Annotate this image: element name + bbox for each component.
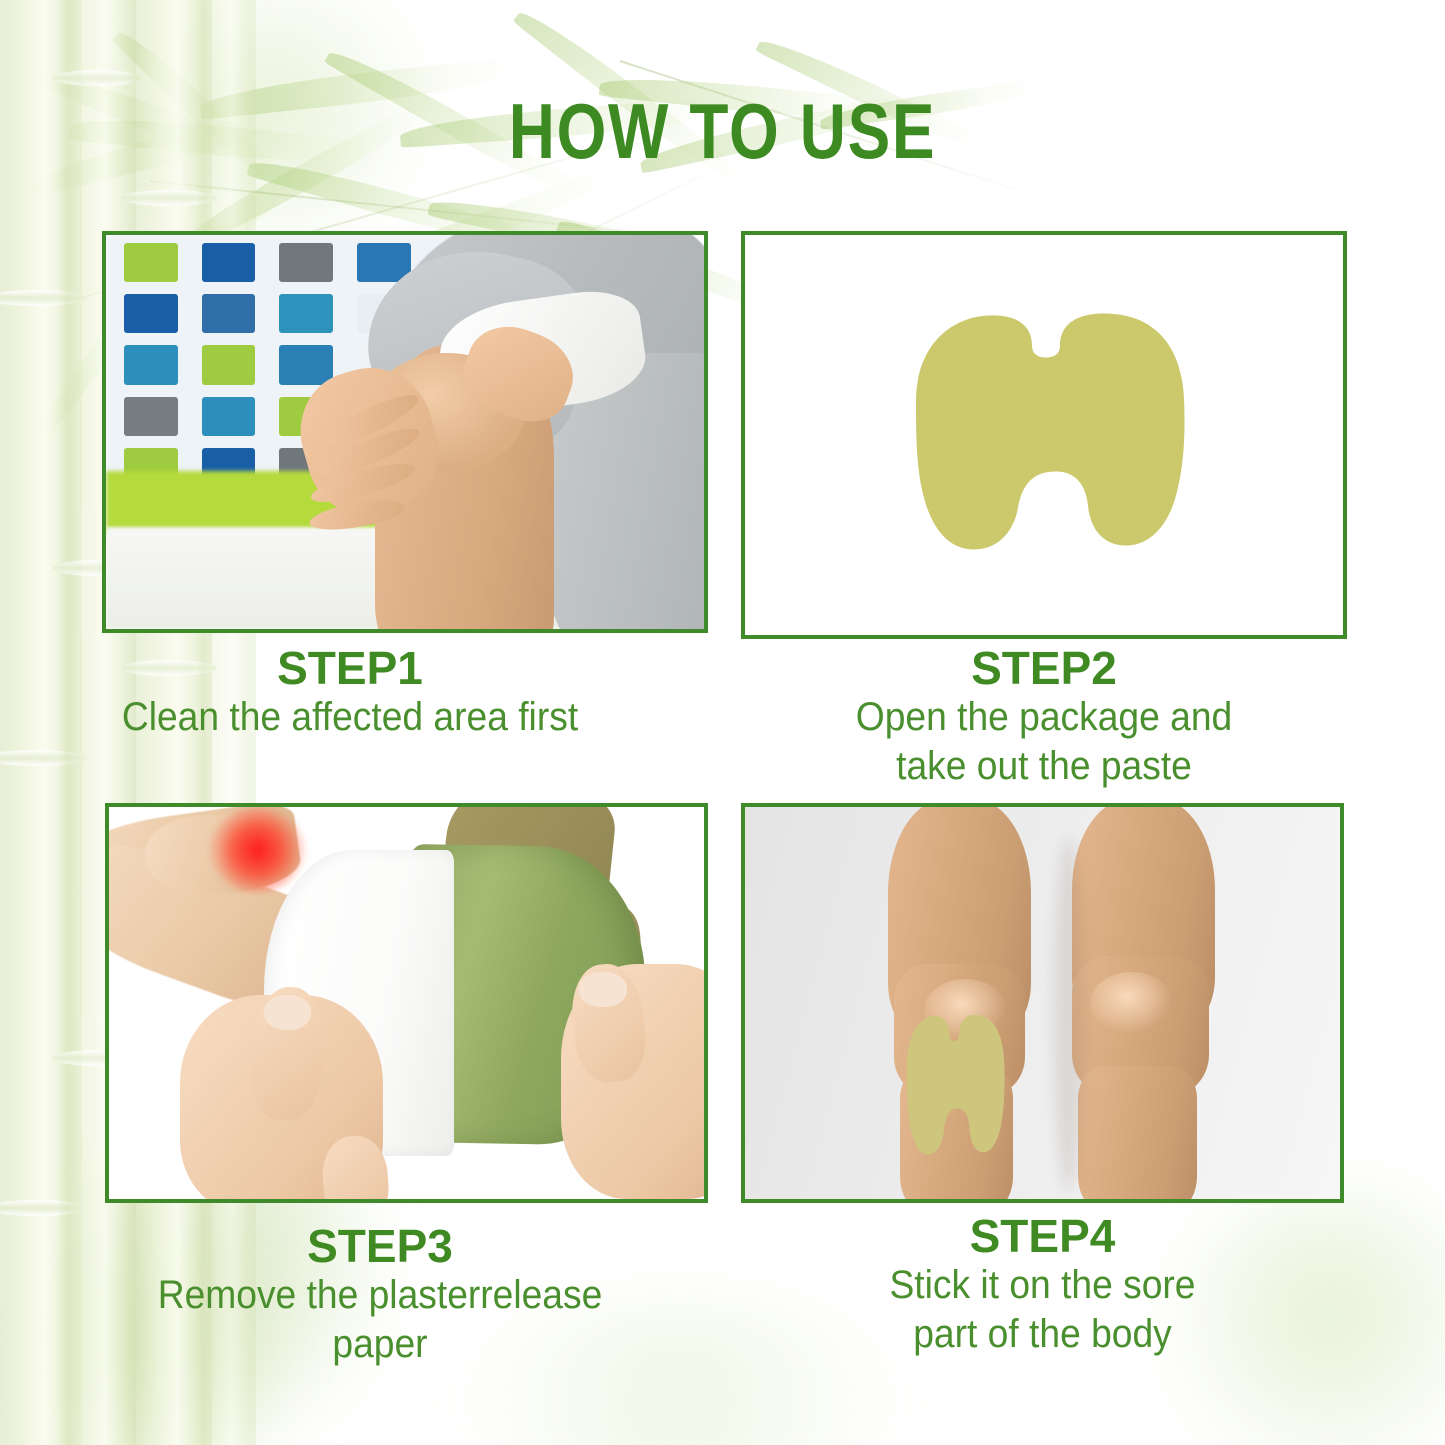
grey-backdrop xyxy=(745,807,1340,1199)
right-leg-calf xyxy=(1078,1066,1197,1199)
legs-with-patch-applied-photo xyxy=(745,807,1340,1199)
step-3-caption: STEP3 Remove the plasterrelease paper xyxy=(60,1222,700,1368)
step-1-label: STEP1 xyxy=(0,644,700,693)
step-3-photo-frame xyxy=(105,803,708,1203)
step-2-label: STEP2 xyxy=(745,644,1343,693)
left-thumb-nail xyxy=(264,995,312,1030)
step-4-label: STEP4 xyxy=(745,1212,1340,1261)
step-2-description-line-2: take out the paste xyxy=(766,742,1322,791)
right-thumb-nail xyxy=(579,972,627,1007)
hands-peeling-release-paper-photo xyxy=(109,807,704,1199)
how-to-use-infographic: HOW TO USE xyxy=(0,0,1445,1445)
between-legs-shadow xyxy=(1054,838,1084,1191)
pain-highlight xyxy=(210,807,305,893)
step-2-description-line-1: Open the package and xyxy=(766,693,1322,742)
step-3-description-line-2: paper xyxy=(82,1320,677,1369)
applied-knee-patch-icon xyxy=(888,1003,1019,1168)
step-2-photo-frame xyxy=(741,231,1347,639)
knee-patch-shape xyxy=(864,294,1224,577)
knee-patch-product-photo xyxy=(745,235,1343,635)
applied-knee-patch xyxy=(888,1003,1019,1168)
step-4-description-line-2: part of the body xyxy=(766,1310,1319,1359)
step-4-description-line-1: Stick it on the sore xyxy=(766,1261,1319,1310)
step-4-caption: STEP4 Stick it on the sore part of the b… xyxy=(745,1212,1340,1358)
step-4-photo-frame xyxy=(741,803,1344,1203)
page-title: HOW TO USE xyxy=(130,86,1315,177)
step-3-label: STEP3 xyxy=(60,1222,700,1271)
step-1-caption: STEP1 Clean the affected area first xyxy=(0,644,700,742)
knee-patch-icon xyxy=(864,294,1224,572)
right-knee-highlight xyxy=(1090,972,1173,1035)
step-1-description: Clean the affected area first xyxy=(25,693,676,742)
person-holding-knee-photo xyxy=(106,235,704,629)
step-1-photo-frame xyxy=(102,231,708,633)
step-2-caption: STEP2 Open the package and take out the … xyxy=(745,644,1343,790)
step-3-description-line-1: Remove the plasterrelease xyxy=(82,1271,677,1320)
